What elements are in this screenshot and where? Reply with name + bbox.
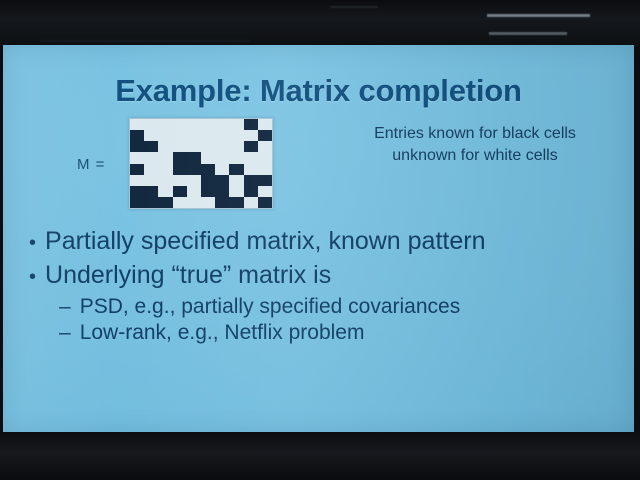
bullet-list: •Partially specified matrix, known patte… [29,227,629,347]
matrix-cell-known [258,175,272,186]
matrix-cell-unknown [158,164,172,175]
matrix-cell-known [130,141,144,152]
matrix-grid [129,118,273,209]
bullet-text: Underlying “true” matrix is [45,261,331,290]
matrix-cell-unknown [229,186,243,197]
matrix-cell-unknown [130,152,144,163]
matrix-cell-unknown [258,119,272,130]
bullet-item: –PSD, e.g., partially specified covarian… [59,295,629,319]
matrix-cell-unknown [201,130,215,141]
matrix-cell-known [144,186,158,197]
matrix-cell-known [187,164,201,175]
matrix-cell-unknown [173,119,187,130]
matrix-cell-unknown [215,164,229,175]
bullet-dot-icon: • [29,232,36,255]
bullet-text: Low-rank, e.g., Netflix problem [80,321,365,345]
matrix-cell-unknown [187,175,201,186]
matrix-cell-unknown [215,130,229,141]
matrix-cell-unknown [173,197,187,208]
matrix-cell-known [173,186,187,197]
matrix-cell-unknown [173,130,187,141]
matrix-cell-known [130,164,144,175]
matrix-cell-unknown [144,164,158,175]
glare-streak [330,6,378,8]
matrix-caption-line-1: Entries known for black cells [325,123,625,145]
matrix-cell-unknown [187,186,201,197]
matrix-cell-unknown [244,164,258,175]
matrix-cell-unknown [229,152,243,163]
matrix-cell-unknown [158,130,172,141]
matrix-cell-known [144,141,158,152]
matrix-cell-unknown [144,152,158,163]
matrix-cell-unknown [144,130,158,141]
matrix-cell-unknown [187,197,201,208]
matrix-cell-unknown [158,186,172,197]
matrix-cell-unknown [229,130,243,141]
matrix-cell-unknown [258,141,272,152]
matrix-cell-known [229,164,243,175]
matrix-cell-unknown [158,152,172,163]
matrix-cell-known [258,130,272,141]
matrix-cell-unknown [144,119,158,130]
matrix-label: M = [77,156,105,173]
matrix-cell-unknown [215,141,229,152]
matrix-cell-unknown [158,141,172,152]
matrix-cell-unknown [201,197,215,208]
bullet-item: •Underlying “true” matrix is [29,261,629,290]
glare-streak [489,32,567,35]
matrix-cell-unknown [187,119,201,130]
matrix-cell-known [158,197,172,208]
matrix-cell-unknown [158,119,172,130]
bullet-dash-icon: – [59,295,71,319]
matrix-cell-unknown [187,130,201,141]
matrix-cell-unknown [201,152,215,163]
matrix-cell-unknown [258,186,272,197]
matrix-cell-known [130,130,144,141]
matrix-cell-known [244,186,258,197]
matrix-cell-known [130,197,144,208]
matrix-cell-unknown [258,164,272,175]
glare-streak [40,40,250,42]
bullet-item: –Low-rank, e.g., Netflix problem [59,321,629,345]
matrix-cell-unknown [244,152,258,163]
matrix-cell-known [215,175,229,186]
matrix-caption: Entries known for black cells unknown fo… [325,123,625,166]
matrix-cell-known [144,197,158,208]
matrix-cell-known [244,175,258,186]
matrix-cell-known [215,197,229,208]
matrix-cell-known [173,152,187,163]
bullet-item: •Partially specified matrix, known patte… [29,227,629,256]
matrix-cell-unknown [130,119,144,130]
matrix-cell-unknown [201,119,215,130]
matrix-cell-unknown [144,175,158,186]
matrix-cell-unknown [244,130,258,141]
projector-video-frame: Example: Matrix completion M = Entries k… [0,0,640,480]
bullet-dash-icon: – [59,321,71,345]
matrix-cell-known [130,186,144,197]
matrix-cell-unknown [215,119,229,130]
slide-title: Example: Matrix completion [3,73,634,109]
matrix-cell-unknown [258,152,272,163]
presentation-slide: Example: Matrix completion M = Entries k… [3,45,634,433]
matrix-cell-known [258,197,272,208]
matrix-cell-unknown [229,141,243,152]
matrix-cell-unknown [229,119,243,130]
bullet-text: Partially specified matrix, known patter… [45,227,485,256]
matrix-cell-unknown [130,175,144,186]
matrix-cell-known [201,164,215,175]
letterbox-top [0,0,640,46]
matrix-cell-unknown [173,175,187,186]
bullet-text: PSD, e.g., partially specified covarianc… [80,295,461,319]
matrix-cell-unknown [173,141,187,152]
bullet-dot-icon: • [29,266,36,289]
matrix-cell-known [201,186,215,197]
matrix-cell-unknown [158,175,172,186]
matrix-cell-unknown [187,141,201,152]
matrix-cell-known [229,197,243,208]
letterbox-bottom [0,432,640,480]
glare-streak [487,14,590,17]
matrix-cell-known [201,175,215,186]
matrix-cell-unknown [229,175,243,186]
matrix-cell-known [173,164,187,175]
matrix-figure: M = [75,118,285,213]
matrix-cell-known [244,119,258,130]
matrix-cell-unknown [244,197,258,208]
matrix-cell-known [187,152,201,163]
matrix-cell-unknown [201,141,215,152]
matrix-cell-known [215,186,229,197]
matrix-cell-known [244,141,258,152]
matrix-caption-line-2: unknown for white cells [325,145,625,167]
matrix-cell-unknown [215,152,229,163]
